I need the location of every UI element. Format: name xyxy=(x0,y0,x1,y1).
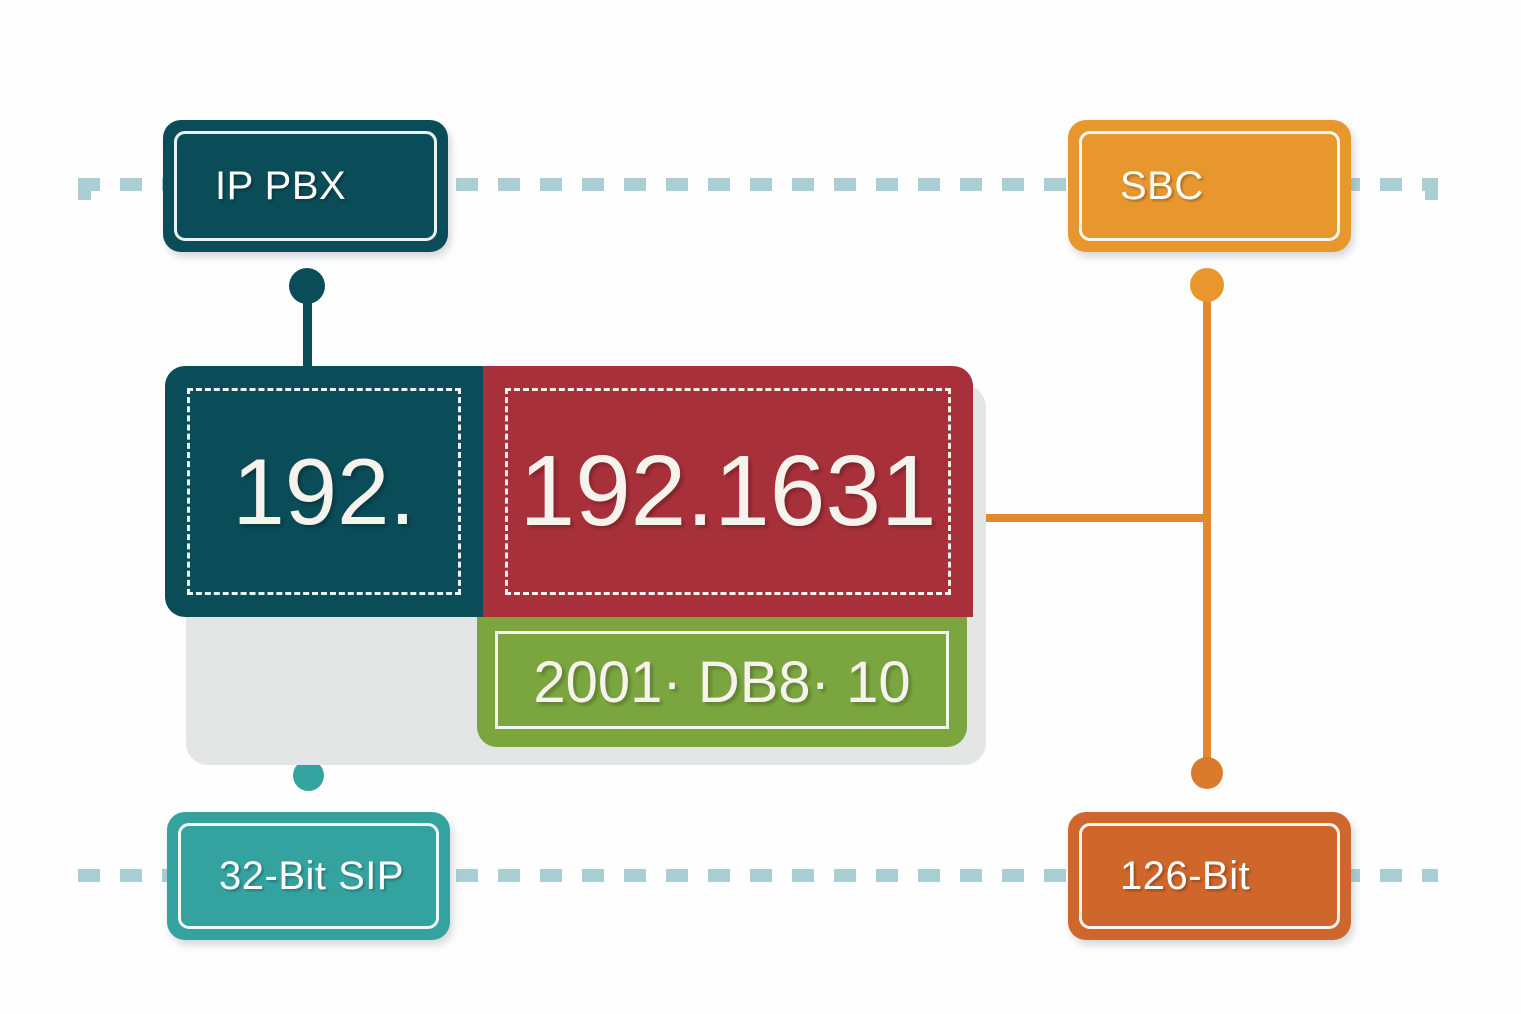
node-126-bit[interactable]: 126-Bit xyxy=(1068,812,1351,940)
node-32-bit-sip-label: 32-Bit SIP xyxy=(181,854,404,899)
frame-left-dashed-line xyxy=(78,178,91,882)
node-sbc-label: SBC xyxy=(1082,164,1204,209)
node-32-bit-sip[interactable]: 32-Bit SIP xyxy=(167,812,450,940)
node-ip-pbx-label: IP PBX xyxy=(177,164,346,209)
diagram-canvas: 192. 192.1631 2001· DB8· 10 IP PBX SBC 3… xyxy=(0,0,1521,1014)
panel-v4-address[interactable]: 192.1631 xyxy=(483,366,973,617)
panel-v4-prefix[interactable]: 192. xyxy=(165,366,483,617)
panel-v4-address-label: 192.1631 xyxy=(483,366,973,617)
connector-dot-ippbx xyxy=(289,268,325,304)
panel-v6-address-label: 2001· DB8· 10 xyxy=(477,617,967,747)
node-ip-pbx[interactable]: IP PBX xyxy=(163,120,448,252)
connector-sbc-vertical-line xyxy=(1203,283,1211,778)
connector-dot-sbc xyxy=(1190,268,1224,302)
node-sbc[interactable]: SBC xyxy=(1068,120,1351,252)
node-32-bit-sip-inner-border: 32-Bit SIP xyxy=(178,823,439,929)
node-126-bit-inner-border: 126-Bit xyxy=(1079,823,1340,929)
connector-sbc-to-v4address-branch xyxy=(970,514,1210,522)
node-126-bit-label: 126-Bit xyxy=(1082,854,1250,899)
node-ip-pbx-inner-border: IP PBX xyxy=(174,131,437,241)
panel-v4-prefix-label: 192. xyxy=(165,366,483,617)
connector-dot-126bit xyxy=(1191,757,1223,789)
panel-v6-address[interactable]: 2001· DB8· 10 xyxy=(477,617,967,747)
frame-right-dashed-line xyxy=(1425,178,1438,882)
node-sbc-inner-border: SBC xyxy=(1079,131,1340,241)
